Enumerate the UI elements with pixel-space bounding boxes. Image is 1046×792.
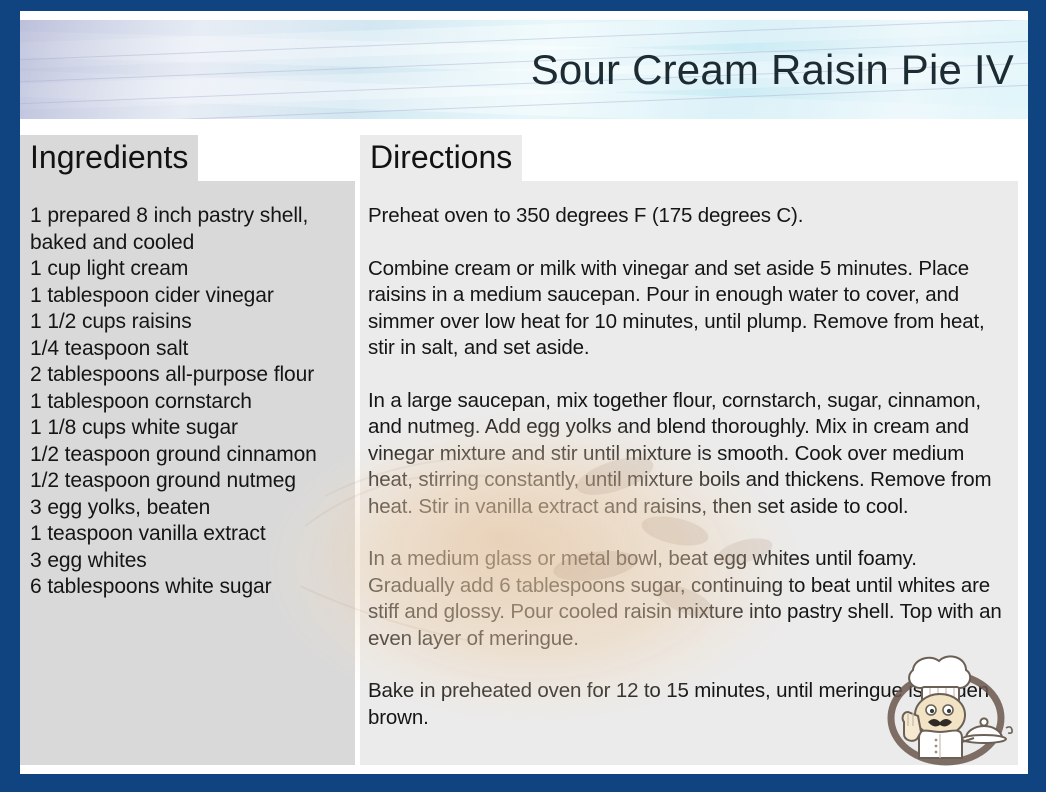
ingredient-item: 1 prepared 8 inch pastry shell, baked an…	[30, 203, 345, 256]
directions-heading: Directions	[360, 135, 522, 181]
ingredient-item: 1/4 teaspoon salt	[30, 336, 345, 363]
chef-face-icon	[915, 694, 965, 736]
ingredients-panel: 1 prepared 8 inch pastry shell, baked an…	[20, 181, 355, 765]
ingredient-item: 1 teaspoon vanilla extract	[30, 521, 345, 548]
recipe-card: Sour Cream Raisin Pie IV Ingredients Dir…	[0, 0, 1046, 792]
ingredient-item: 1 tablespoon cornstarch	[30, 389, 345, 416]
ingredient-item: 3 egg yolks, beaten	[30, 495, 345, 522]
recipe-page: Sour Cream Raisin Pie IV Ingredients Dir…	[20, 11, 1028, 774]
chef-hand-icon	[903, 712, 921, 741]
ingredient-item: 1/2 teaspoon ground nutmeg	[30, 468, 345, 495]
direction-step: In a medium glass or metal bowl, beat eg…	[368, 546, 1004, 652]
ingredient-item: 1 1/8 cups white sugar	[30, 415, 345, 442]
direction-step: In a large saucepan, mix together flour,…	[368, 388, 1004, 521]
chef-body-icon	[919, 731, 962, 759]
cloche-icon	[962, 718, 1012, 743]
ingredient-item: 1 tablespoon cider vinegar	[30, 283, 345, 310]
recipe-title: Sour Cream Raisin Pie IV	[531, 46, 1014, 94]
ingredient-item: 1 cup light cream	[30, 256, 345, 283]
ingredient-item: 2 tablespoons all-purpose flour	[30, 362, 345, 389]
direction-step: Combine cream or milk with vinegar and s…	[368, 256, 1004, 362]
direction-step: Preheat oven to 350 degrees F (175 degre…	[368, 203, 1004, 230]
ingredients-heading: Ingredients	[20, 135, 198, 181]
ingredient-item: 1 1/2 cups raisins	[30, 309, 345, 336]
ingredient-item: 3 egg whites	[30, 548, 345, 575]
ingredient-item: 6 tablespoons white sugar	[30, 574, 345, 601]
ingredient-item: 1/2 teaspoon ground cinnamon	[30, 442, 345, 469]
chef-mascot-logo	[874, 646, 1022, 770]
title-banner: Sour Cream Raisin Pie IV	[20, 20, 1028, 119]
